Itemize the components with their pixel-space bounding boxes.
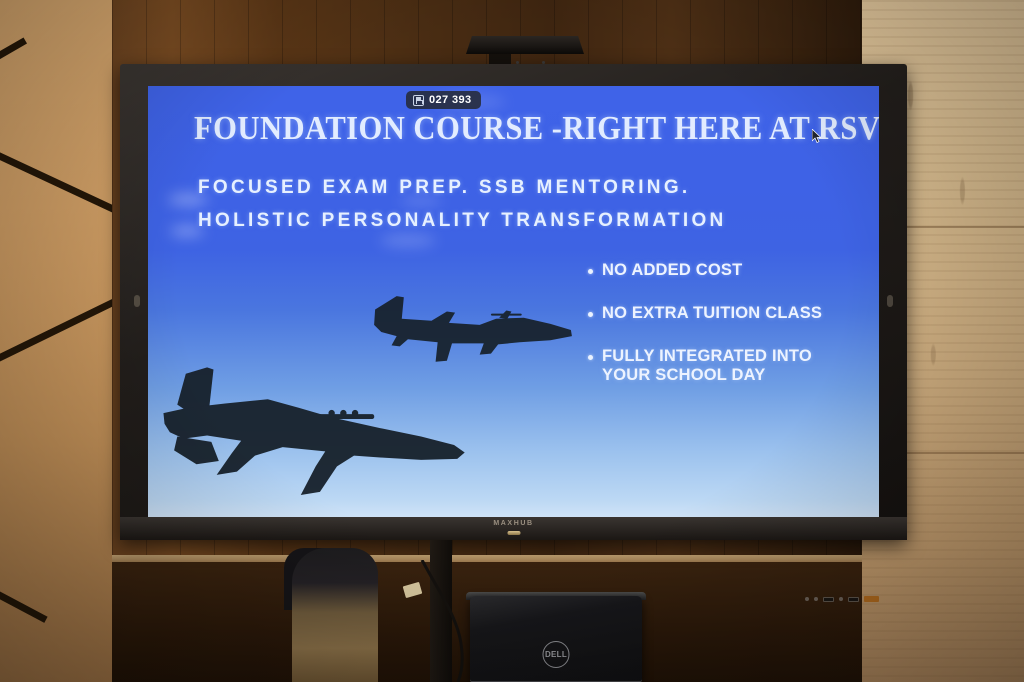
bezel-marker-right <box>887 295 893 307</box>
usb-port-icon[interactable] <box>848 597 859 602</box>
fighter-jet-f15-silhouette <box>156 362 486 517</box>
bullet-text: NO ADDED COST <box>602 261 742 280</box>
bezel-marker-left <box>134 295 140 307</box>
bullet-dot-icon <box>588 312 593 317</box>
list-item: NO EXTRA TUITION CLASS <box>588 304 860 323</box>
list-item: NO ADDED COST <box>588 261 860 280</box>
bullet-text: FULLY INTEGRATED INTO YOUR SCHOOL DAY <box>602 347 860 385</box>
status-badge[interactable]: 027 393 <box>406 91 481 109</box>
laptop[interactable]: DELL <box>470 596 642 682</box>
control-dot-icon <box>814 597 818 601</box>
camera-soundbar <box>466 36 584 54</box>
power-led-indicator <box>507 531 520 535</box>
bullet-dot-icon <box>588 355 593 360</box>
usb-port-icon[interactable] <box>823 597 834 602</box>
person-silhouette <box>292 548 378 682</box>
dell-logo: DELL <box>543 641 570 668</box>
slide-subtitle-line-1: FOCUSED EXAM PREP. SSB MENTORING. <box>198 177 690 199</box>
power-button-icon[interactable] <box>839 597 843 601</box>
power-cable <box>412 560 474 682</box>
mouse-pointer-icon <box>812 129 821 143</box>
display-screen[interactable]: FOUNDATION COURSE -RIGHT HERE AT RSV FOC… <box>148 86 879 517</box>
slide-subtitle-line-2: HOLISTIC PERSONALITY TRANSFORMATION <box>198 210 727 232</box>
control-dot-icon <box>805 597 809 601</box>
indicator-amber-icon <box>864 596 879 602</box>
display-brand-label: MAXHUB <box>493 520 533 527</box>
bullet-text: NO EXTRA TUITION CLASS <box>602 304 822 323</box>
slide-title: FOUNDATION COURSE -RIGHT HERE AT RSV <box>194 110 779 148</box>
list-item: FULLY INTEGRATED INTO YOUR SCHOOL DAY <box>588 347 860 385</box>
bullet-dot-icon <box>588 269 593 274</box>
badge-value: 027 393 <box>429 94 472 106</box>
presentation-slide: FOUNDATION COURSE -RIGHT HERE AT RSV FOC… <box>148 86 879 517</box>
room-scene: FOUNDATION COURSE -RIGHT HERE AT RSV FOC… <box>0 0 1024 682</box>
slide-bullet-list: NO ADDED COST NO EXTRA TUITION CLASS FUL… <box>588 261 860 409</box>
display-control-row[interactable] <box>805 596 879 602</box>
display-bottom-bezel: MAXHUB <box>120 517 907 540</box>
interactive-display[interactable]: FOUNDATION COURSE -RIGHT HERE AT RSV FOC… <box>120 64 907 540</box>
save-icon <box>413 95 424 106</box>
